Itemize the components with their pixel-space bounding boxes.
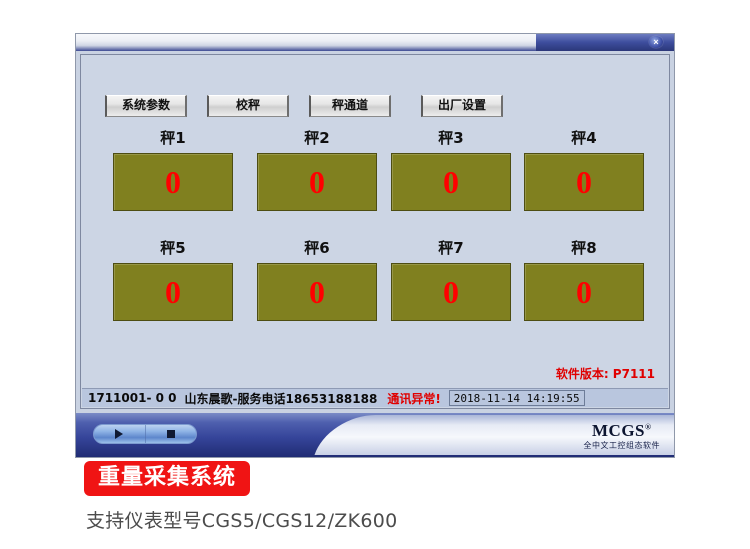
- scale-display-8[interactable]: 0: [524, 263, 644, 321]
- scale-display-5[interactable]: 0: [113, 263, 233, 321]
- scale-grid: 秤1 0 秤2 0 秤3 0: [81, 127, 669, 347]
- scale-cell-8: 秤8 0: [524, 237, 644, 321]
- scale-label-3: 秤3: [391, 127, 511, 148]
- scale-cell-1: 秤1 0: [113, 127, 233, 211]
- scale-label-8: 秤8: [524, 237, 644, 258]
- software-version-label: 软件版本: P7111: [556, 365, 655, 382]
- scale-display-7[interactable]: 0: [391, 263, 511, 321]
- supported-models-text: 支持仪表型号CGS5/CGS12/ZK600: [86, 506, 398, 533]
- registered-trademark-icon: ®: [645, 422, 651, 431]
- system-parameters-button[interactable]: 系统参数: [105, 95, 187, 117]
- communication-alarm-text: 通讯异常!: [387, 390, 440, 407]
- scale-label-2: 秤2: [257, 127, 377, 148]
- scale-label-7: 秤7: [391, 237, 511, 258]
- scale-label-4: 秤4: [524, 127, 644, 148]
- mcgs-tagline: 全中文工控组态软件: [584, 440, 661, 451]
- scale-cell-5: 秤5 0: [113, 237, 233, 321]
- scale-cell-2: 秤2 0: [257, 127, 377, 211]
- company-service-text: 山东晨歌-服务电话18653188188: [184, 390, 377, 407]
- scale-label-1: 秤1: [113, 127, 233, 148]
- scale-row-top: 秤1 0 秤2 0 秤3 0: [81, 127, 669, 237]
- product-name-badge: 重量采集系统: [84, 461, 250, 496]
- scale-display-2[interactable]: 0: [257, 153, 377, 211]
- scale-display-4[interactable]: 0: [524, 153, 644, 211]
- toolbar: 系统参数 校秤 秤通道 出厂设置: [81, 55, 669, 103]
- scale-value-2: 0: [309, 166, 325, 198]
- scale-label-5: 秤5: [113, 237, 233, 258]
- scale-value-5: 0: [165, 276, 181, 308]
- scale-display-3[interactable]: 0: [391, 153, 511, 211]
- play-icon[interactable]: [94, 425, 146, 443]
- device-id-text: 1711001- 0 0: [88, 391, 176, 405]
- stop-icon[interactable]: [146, 425, 197, 443]
- factory-settings-button[interactable]: 出厂设置: [421, 95, 503, 117]
- runtime-control-pill: [93, 424, 197, 444]
- scale-cell-7: 秤7 0: [391, 237, 511, 321]
- window-title-bar: ×: [76, 34, 674, 51]
- mcgs-brand-text: MCGS: [592, 421, 645, 440]
- scale-cell-6: 秤6 0: [257, 237, 377, 321]
- stop-square-icon: [167, 430, 175, 438]
- mcgs-logo: MCGS® 全中文工控组态软件: [584, 421, 661, 451]
- scale-channel-button[interactable]: 秤通道: [309, 95, 391, 117]
- screenshot-root: × 系统参数 校秤 秤通道 出厂设置 秤1 0: [0, 0, 750, 549]
- scale-cell-3: 秤3 0: [391, 127, 511, 211]
- scale-value-1: 0: [165, 166, 181, 198]
- play-triangle-icon: [115, 429, 123, 439]
- scale-display-1[interactable]: 0: [113, 153, 233, 211]
- client-area: 系统参数 校秤 秤通道 出厂设置 秤1 0 秤2: [80, 54, 670, 409]
- scale-value-7: 0: [443, 276, 459, 308]
- hmi-window: × 系统参数 校秤 秤通道 出厂设置 秤1 0: [75, 33, 675, 458]
- scale-cell-4: 秤4 0: [524, 127, 644, 211]
- scale-display-6[interactable]: 0: [257, 263, 377, 321]
- calibrate-scale-button[interactable]: 校秤: [207, 95, 289, 117]
- scale-value-3: 0: [443, 166, 459, 198]
- datetime-field: 2018-11-14 14:19:55: [449, 390, 585, 406]
- scale-label-6: 秤6: [257, 237, 377, 258]
- mcgs-wordmark: MCGS®: [584, 421, 661, 441]
- status-bar: 1711001- 0 0 山东晨歌-服务电话18653188188 通讯异常! …: [82, 388, 668, 407]
- runtime-chrome-bar: MCGS® 全中文工控组态软件: [76, 413, 674, 457]
- close-icon[interactable]: ×: [649, 36, 663, 48]
- scale-row-bottom: 秤5 0 秤6 0 秤7 0: [81, 237, 669, 347]
- scale-value-6: 0: [309, 276, 325, 308]
- scale-value-4: 0: [576, 166, 592, 198]
- scale-value-8: 0: [576, 276, 592, 308]
- title-bar-left-segment: [76, 34, 542, 51]
